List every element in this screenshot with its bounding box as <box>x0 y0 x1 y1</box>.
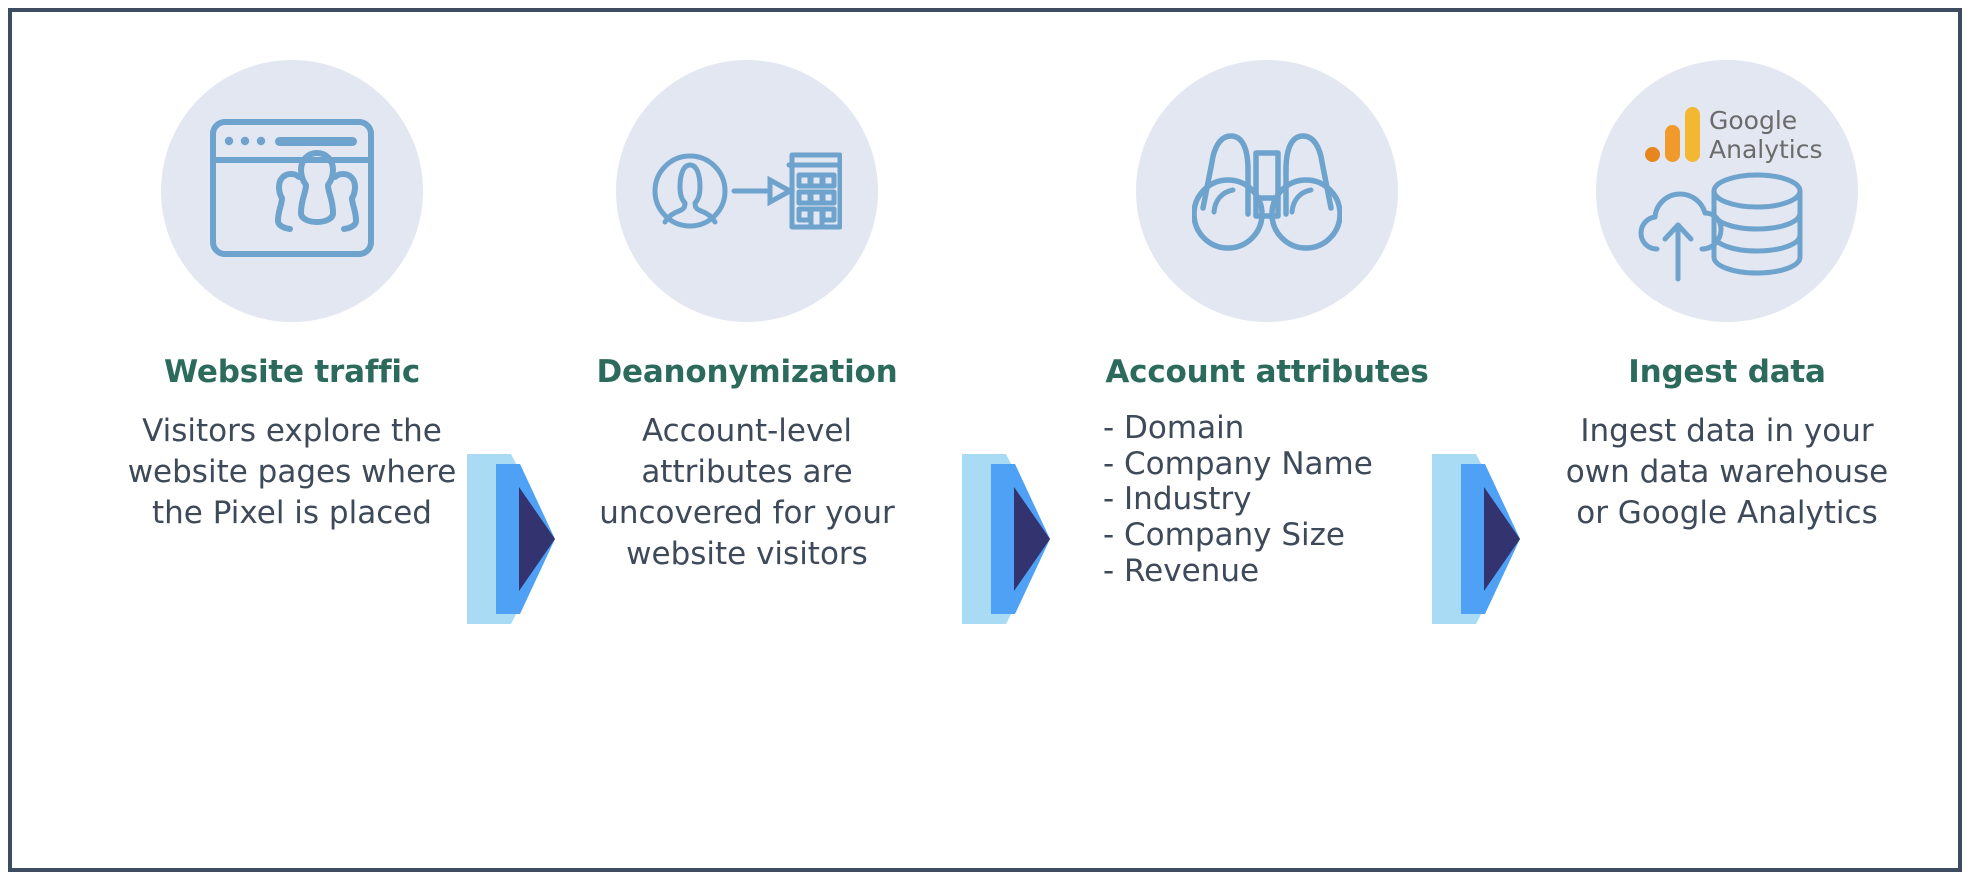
cloud-upload-icon <box>1641 194 1721 279</box>
binoculars-icon <box>1136 60 1398 322</box>
step-body: Ingest data in your own data warehouse o… <box>1557 411 1897 534</box>
browser-window-visitors-icon <box>161 60 423 322</box>
step-separator-arrow-2 <box>962 454 1050 624</box>
step-website-traffic: Website traffic Visitors explore the web… <box>122 60 462 534</box>
database-icon <box>1714 175 1800 273</box>
person-to-company-icon <box>616 60 878 322</box>
step-account-attributes: Account attributes - Domain - Company Na… <box>1097 60 1437 589</box>
step-separator-arrow-1 <box>467 454 555 624</box>
step-body: Visitors explore the website pages where… <box>122 411 462 534</box>
step-title: Website traffic <box>122 354 462 391</box>
diagram-canvas: Website traffic Visitors explore the web… <box>0 0 1970 882</box>
diagram-frame: Website traffic Visitors explore the web… <box>8 8 1962 872</box>
step-title: Ingest data <box>1557 354 1897 391</box>
steps-container: Website traffic Visitors explore the web… <box>12 12 1966 876</box>
step-separator-arrow-3 <box>1432 454 1520 624</box>
step-ingest-data: Google Analytics <box>1557 60 1897 534</box>
list-item: - Industry <box>1103 482 1437 518</box>
step-deanonymization: Deanonymization Account-level attributes… <box>577 60 917 575</box>
google-analytics-bars-icon <box>1645 107 1700 162</box>
svg-text:Analytics: Analytics <box>1709 135 1823 164</box>
google-analytics-cloud-database-icon: Google Analytics <box>1596 60 1858 322</box>
step-title: Deanonymization <box>577 354 917 391</box>
step-title: Account attributes <box>1097 354 1437 391</box>
step-body: Account-level attributes are uncovered f… <box>577 411 917 575</box>
account-attributes-list: - Domain - Company Name - Industry - Com… <box>1097 411 1437 589</box>
list-item: - Company Size <box>1103 518 1437 554</box>
svg-text:Google: Google <box>1709 106 1797 135</box>
list-item: - Company Name <box>1103 447 1437 483</box>
list-item: - Domain <box>1103 411 1437 447</box>
list-item: - Revenue <box>1103 554 1437 590</box>
